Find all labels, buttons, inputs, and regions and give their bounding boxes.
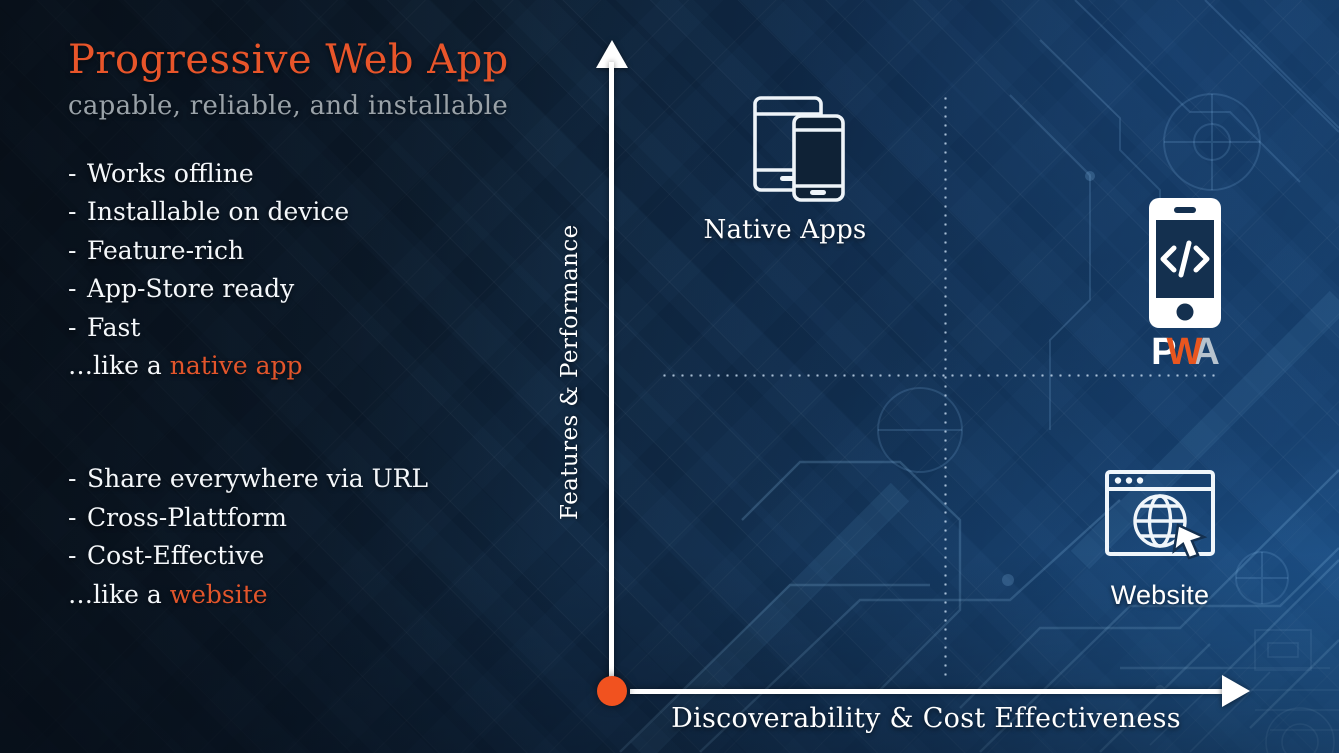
bullet-dash: -: [68, 309, 87, 348]
bullet-dash: -: [68, 232, 87, 271]
list-item-label: Cost-Effective: [87, 541, 264, 570]
list-item-label: Feature-rich: [87, 236, 244, 265]
bullet-dash: -: [68, 193, 87, 232]
list-item-label: Works offline: [87, 159, 254, 188]
tablet-phone-icon: [725, 90, 845, 202]
pwa-wordmark-w: W: [1167, 331, 1202, 373]
x-axis-arrowhead: [1222, 675, 1250, 707]
bullet-dash: -: [68, 155, 87, 194]
left-text-column: Progressive Web App capable, reliable, a…: [68, 38, 568, 386]
list-item-label: App-Store ready: [87, 274, 294, 303]
list-item-label: Installable on device: [87, 197, 349, 226]
list-item: -Installable on device: [68, 193, 568, 232]
phone-code-icon: [1149, 198, 1221, 328]
bullet-dash: -: [68, 460, 87, 499]
bullet-dash: -: [68, 270, 87, 309]
list-item: -Cross-Plattform: [68, 499, 588, 538]
quadrant-item-pwa: PWA: [1112, 196, 1258, 372]
quadrant-item-website: Website: [1082, 462, 1238, 611]
y-axis-line: [609, 62, 614, 692]
quadrant-guide-vertical: [944, 94, 947, 676]
native-kicker: …like a native app: [68, 347, 568, 386]
web-kicker: …like a website: [68, 576, 588, 615]
native-feature-list: -Works offline -Installable on device -F…: [68, 155, 568, 386]
quadrant-guide-horizontal: [660, 374, 1220, 377]
native-kicker-prefix: …like a: [68, 351, 170, 380]
bullet-dash: -: [68, 537, 87, 576]
web-text-column: -Share everywhere via URL -Cross-Plattfo…: [68, 460, 588, 614]
web-feature-list: -Share everywhere via URL -Cross-Plattfo…: [68, 460, 588, 614]
web-kicker-prefix: …like a: [68, 580, 170, 609]
quadrant-item-label: Native Apps: [668, 215, 902, 245]
page-title: Progressive Web App: [68, 38, 568, 83]
native-kicker-accent: native app: [170, 351, 303, 380]
list-item: -Cost-Effective: [68, 537, 588, 576]
origin-marker-dot: [597, 676, 627, 706]
x-axis-label: Discoverability & Cost Effectiveness: [630, 703, 1222, 734]
list-item-label: Cross-Plattform: [87, 503, 287, 532]
x-axis-line: [630, 689, 1222, 694]
y-axis-label: Features & Performance: [557, 186, 585, 558]
bullet-dash: -: [68, 499, 87, 538]
list-item-label: Share everywhere via URL: [87, 464, 428, 493]
web-kicker-accent: website: [170, 580, 268, 609]
list-item: -App-Store ready: [68, 270, 568, 309]
page-subtitle: capable, reliable, and installable: [68, 91, 568, 121]
pwa-wordmark: PWA: [1112, 332, 1258, 372]
list-item: -Feature-rich: [68, 232, 568, 271]
browser-globe-cursor-icon: [1104, 467, 1216, 561]
quadrant-item-label: Website: [1082, 580, 1238, 611]
pwa-quadrant-slide: Progressive Web App capable, reliable, a…: [0, 0, 1339, 753]
list-item: -Works offline: [68, 155, 568, 194]
list-item: -Share everywhere via URL: [68, 460, 588, 499]
list-item: -Fast: [68, 309, 568, 348]
quadrant-item-native-apps: Native Apps: [668, 92, 902, 245]
list-item-label: Fast: [87, 313, 140, 342]
